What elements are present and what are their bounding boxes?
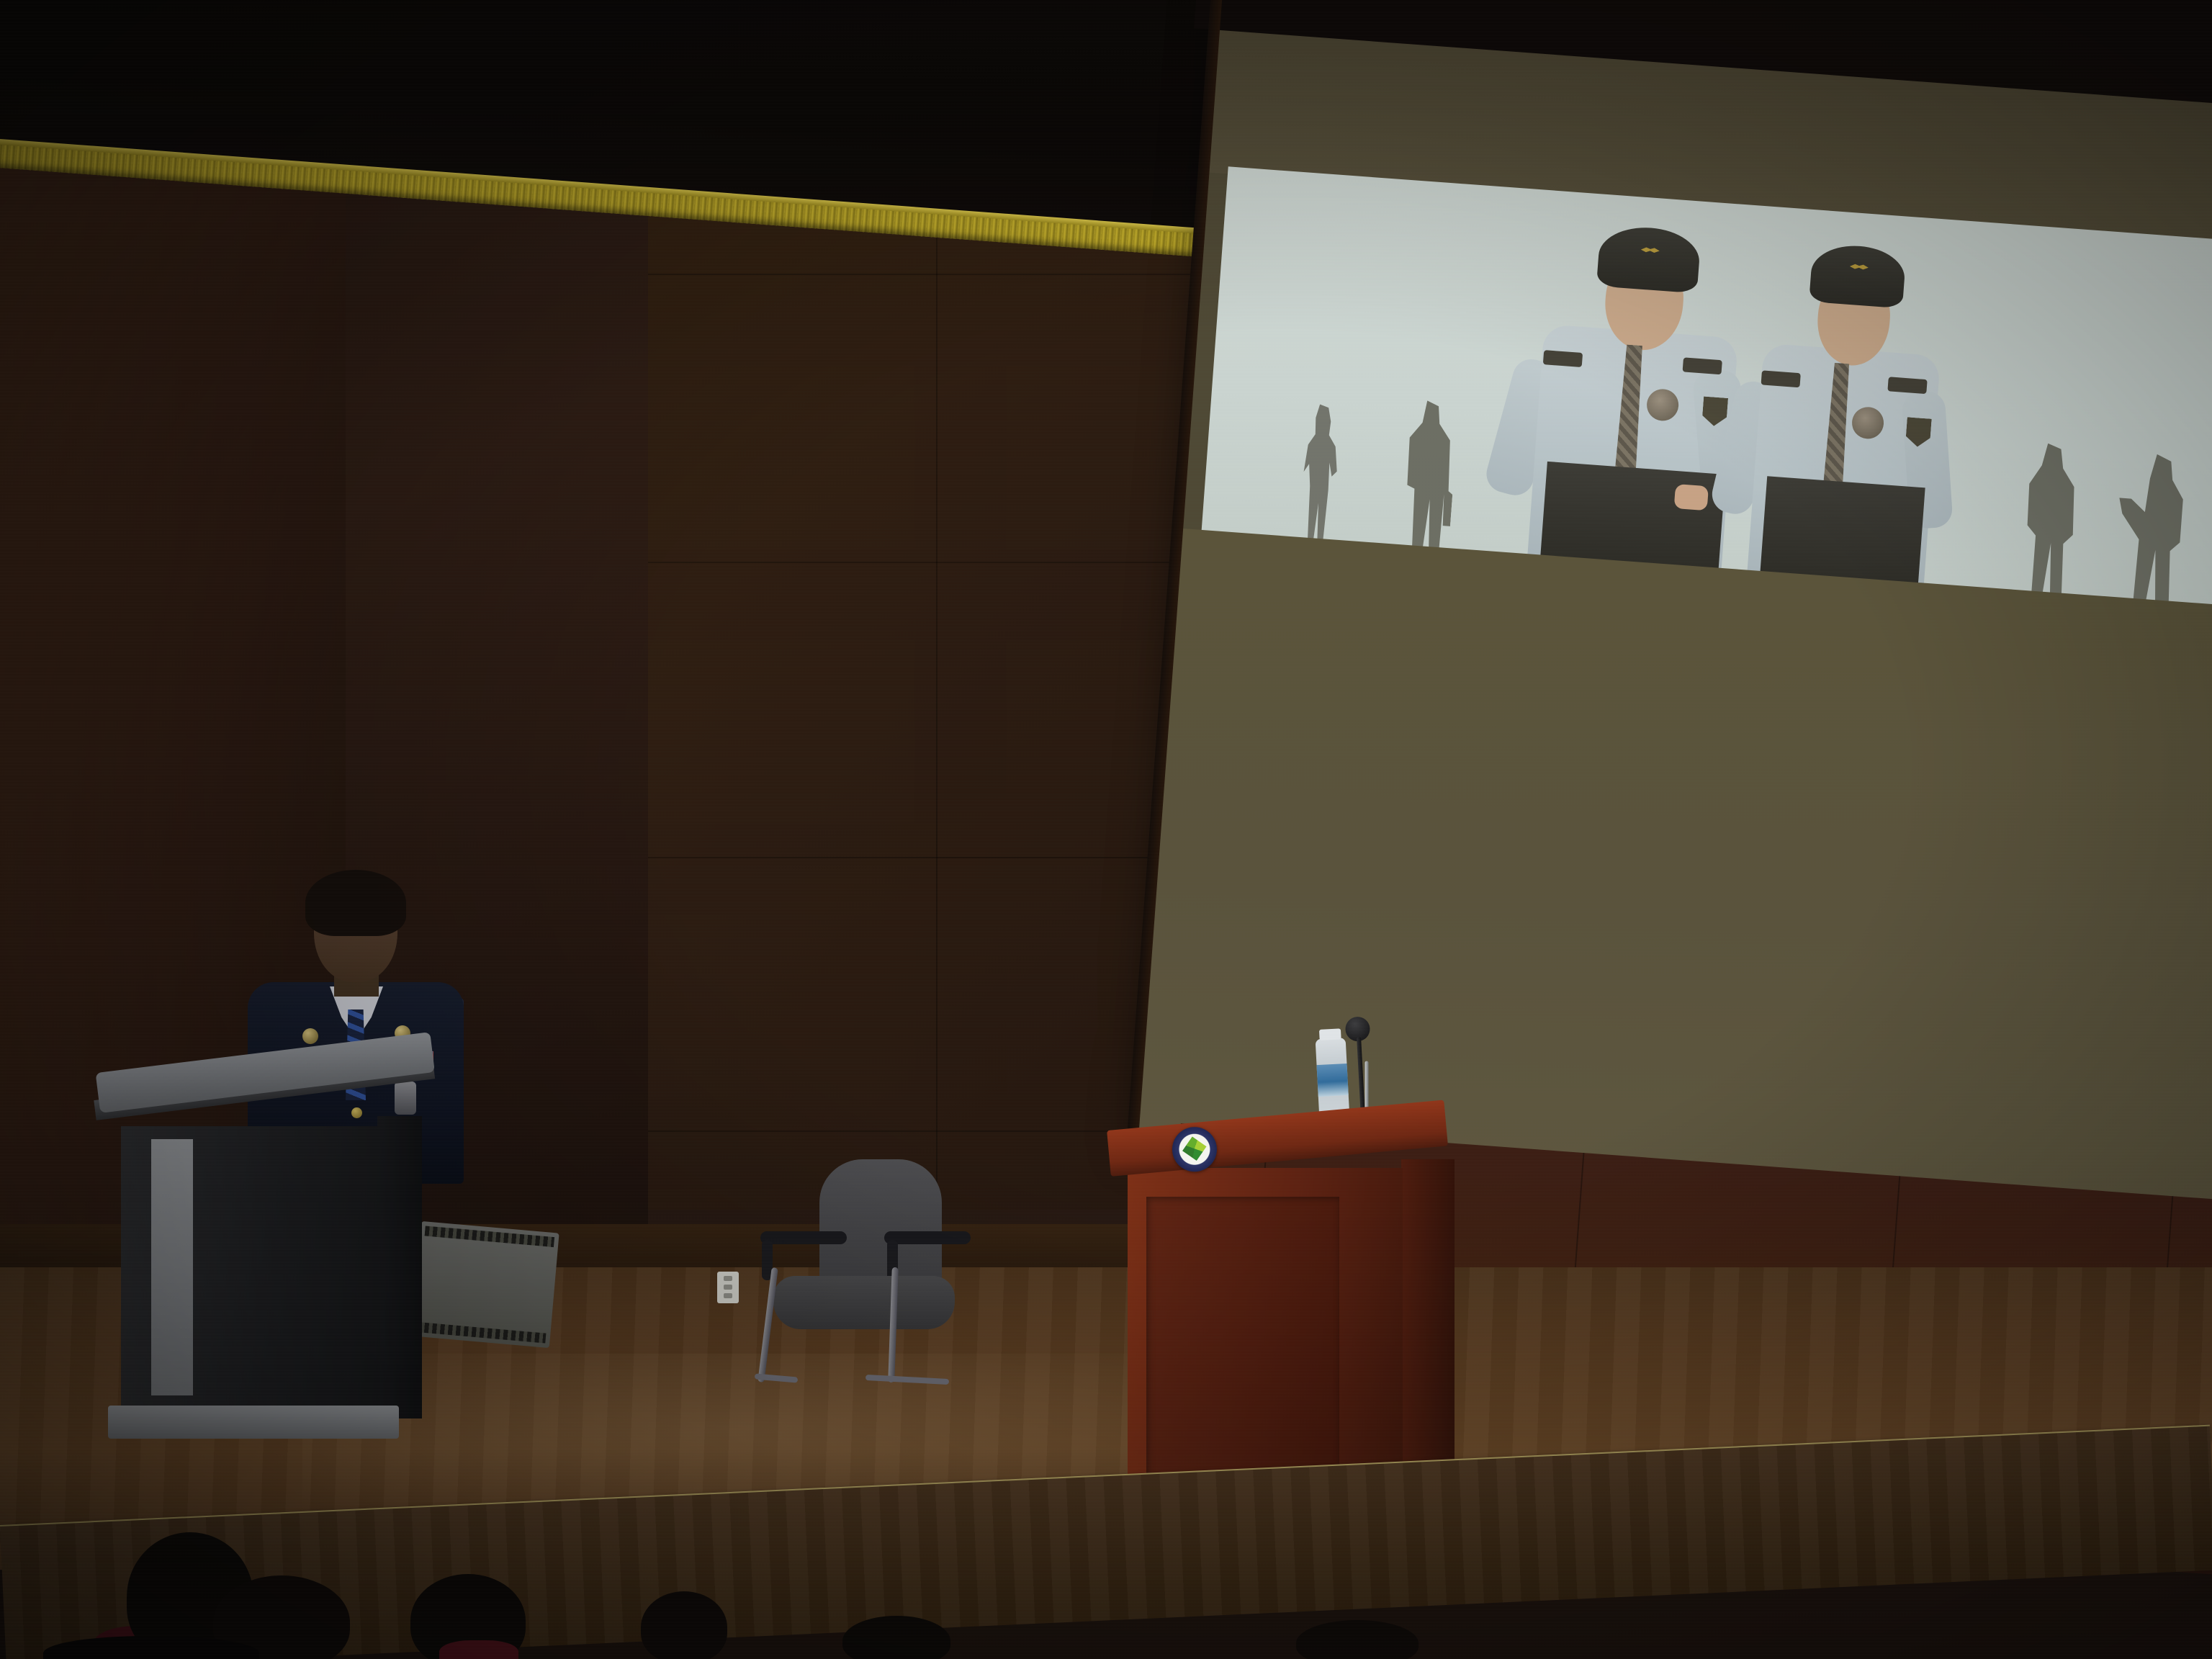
speaker-hair: [305, 870, 406, 936]
audience-head-4: [641, 1591, 727, 1659]
cap-eagle-badge: [1640, 245, 1660, 256]
bottle-cap: [1319, 1028, 1341, 1040]
lectern-side-panel: [377, 1116, 422, 1419]
grey-visitor-chair: [757, 1159, 974, 1419]
podium-inset-panel: [1146, 1197, 1339, 1485]
chair-seat: [773, 1276, 955, 1329]
silhouette-man-standing: [2015, 442, 2082, 606]
bottle-label: [1317, 1064, 1349, 1097]
officer-police-cap: [1596, 224, 1701, 293]
officer-epaulet-right: [1683, 357, 1722, 374]
lectern-base: [108, 1406, 399, 1439]
auditorium-photo-scene: 여기를 한번 보세요 「경찰」이란 직업,: [0, 0, 2212, 1659]
officer-epaulet-left: [1543, 350, 1583, 367]
projection-screen: 여기를 한번 보세요 「경찰」이란 직업,: [1134, 0, 2212, 1228]
silhouette-man-with-briefcase: [1395, 399, 1460, 561]
officer-police-cap: [1809, 243, 1907, 308]
grey-metal-lectern: [121, 1080, 412, 1455]
speaker-collar-pin-left: [302, 1028, 318, 1044]
silhouette-woman-hands-on-hips: [1295, 403, 1345, 543]
silhouette-man-gesturing: [2111, 451, 2188, 610]
wall-heater: [411, 1221, 559, 1348]
power-outlet: [717, 1272, 739, 1303]
lectern-accent-stripe: [151, 1139, 193, 1395]
cap-eagle-badge: [1849, 261, 1869, 273]
audience-red-clothing-2: [439, 1640, 518, 1659]
officer-epaulet-left: [1761, 370, 1801, 387]
chair-leg-front-left: [757, 1267, 778, 1382]
crest-leaf-icon: [1180, 1134, 1208, 1162]
chair-arm-left: [760, 1231, 847, 1244]
female-police-officer: [1718, 238, 1980, 593]
officer-epaulet-right: [1887, 377, 1927, 394]
officer-hand: [1674, 484, 1709, 511]
